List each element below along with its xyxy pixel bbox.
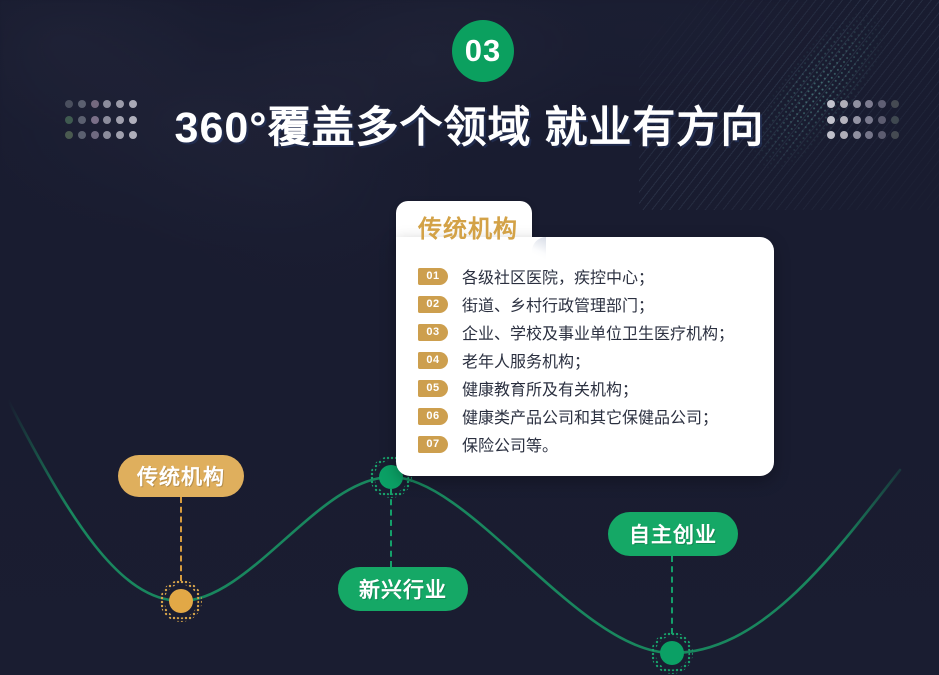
- list-item-text: 各级社区医院，疾控中心；: [462, 264, 654, 288]
- list-item: 06 健康类产品公司和其它保健品公司；: [418, 403, 734, 429]
- list-item: 02 街道、乡村行政管理部门；: [418, 291, 734, 317]
- label-traditional[interactable]: 传统机构: [118, 455, 244, 497]
- list-item-text: 老年人服务机构；: [462, 348, 590, 372]
- list-item-number: 03: [418, 324, 448, 341]
- node-traditional[interactable]: [160, 580, 202, 622]
- label-emerging[interactable]: 新兴行业: [338, 567, 468, 611]
- list-item: 01 各级社区医院，疾控中心；: [418, 263, 734, 289]
- list-item: 04 老年人服务机构；: [418, 347, 734, 373]
- slide-canvas: 03 360°覆盖多个领域 就业有方向: [0, 0, 939, 675]
- info-card-title: 传统机构: [418, 209, 518, 244]
- connector-startup: [671, 556, 673, 634]
- list-item-text: 企业、学校及事业单位卫生医疗机构；: [462, 320, 734, 344]
- list-item: 07 保险公司等。: [418, 431, 734, 457]
- list-item-number: 07: [418, 436, 448, 453]
- list-item-number: 06: [418, 408, 448, 425]
- list-item-number: 04: [418, 352, 448, 369]
- info-card-notch-decor: [532, 237, 546, 263]
- list-item-text: 健康类产品公司和其它保健品公司；: [462, 404, 718, 428]
- node-startup[interactable]: [651, 632, 693, 674]
- connector-emerging: [390, 489, 392, 567]
- list-item-text: 街道、乡村行政管理部门；: [462, 292, 654, 316]
- list-item-text: 保险公司等。: [462, 432, 558, 456]
- list-item-number: 02: [418, 296, 448, 313]
- list-item-number: 05: [418, 380, 448, 397]
- info-card-list: 01 各级社区医院，疾控中心； 02 街道、乡村行政管理部门； 03 企业、学校…: [418, 263, 734, 459]
- list-item: 03 企业、学校及事业单位卫生医疗机构；: [418, 319, 734, 345]
- connector-traditional: [180, 497, 182, 581]
- list-item: 05 健康教育所及有关机构；: [418, 375, 734, 401]
- label-startup[interactable]: 自主创业: [608, 512, 738, 556]
- list-item-number: 01: [418, 268, 448, 285]
- info-card: 传统机构 01 各级社区医院，疾控中心； 02 街道、乡村行政管理部门； 03 …: [396, 201, 786, 479]
- node-core-decor: [660, 641, 684, 665]
- list-item-text: 健康教育所及有关机构；: [462, 376, 638, 400]
- node-core-decor: [169, 589, 193, 613]
